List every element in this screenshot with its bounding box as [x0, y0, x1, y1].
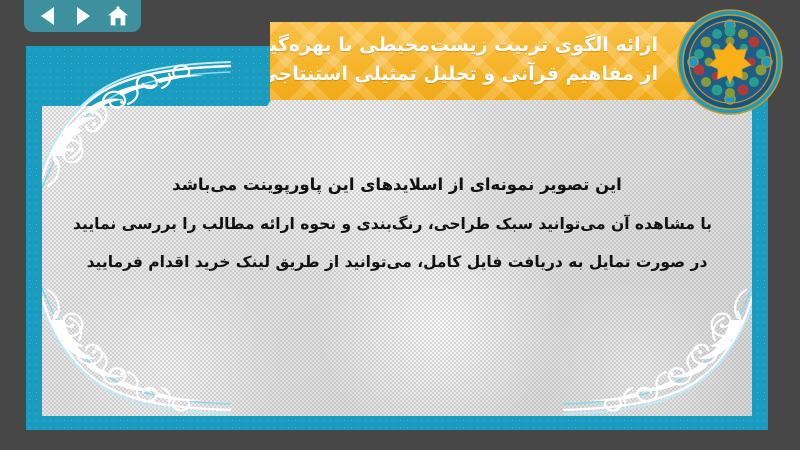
slide-frame: این تصویر نمونه‌ای از اسلایدهای این پاور… — [26, 46, 768, 430]
back-arrow-icon — [39, 6, 57, 26]
back-button[interactable] — [34, 3, 62, 29]
title-line-1: ارائه الگوی تربیت زیست‌محیطی با بهره‌گیر… — [270, 31, 658, 60]
home-button[interactable] — [104, 3, 132, 29]
forward-arrow-icon — [74, 6, 92, 26]
forward-button[interactable] — [69, 3, 97, 29]
islamic-medallion-icon — [676, 8, 784, 116]
slide-content-panel — [42, 60, 752, 416]
slide-viewer: این تصویر نمونه‌ای از اسلایدهای این پاور… — [0, 0, 800, 450]
title-line-2: از مفاهیم قرآنی و تحلیل تمثیلی استنتاجی — [270, 60, 658, 89]
banner-notch-decoration — [26, 46, 288, 106]
navigation-toolbar — [24, 0, 141, 32]
slide-title-banner: ارائه الگوی تربیت زیست‌محیطی با بهره‌گیر… — [270, 22, 732, 100]
home-icon — [107, 6, 129, 27]
